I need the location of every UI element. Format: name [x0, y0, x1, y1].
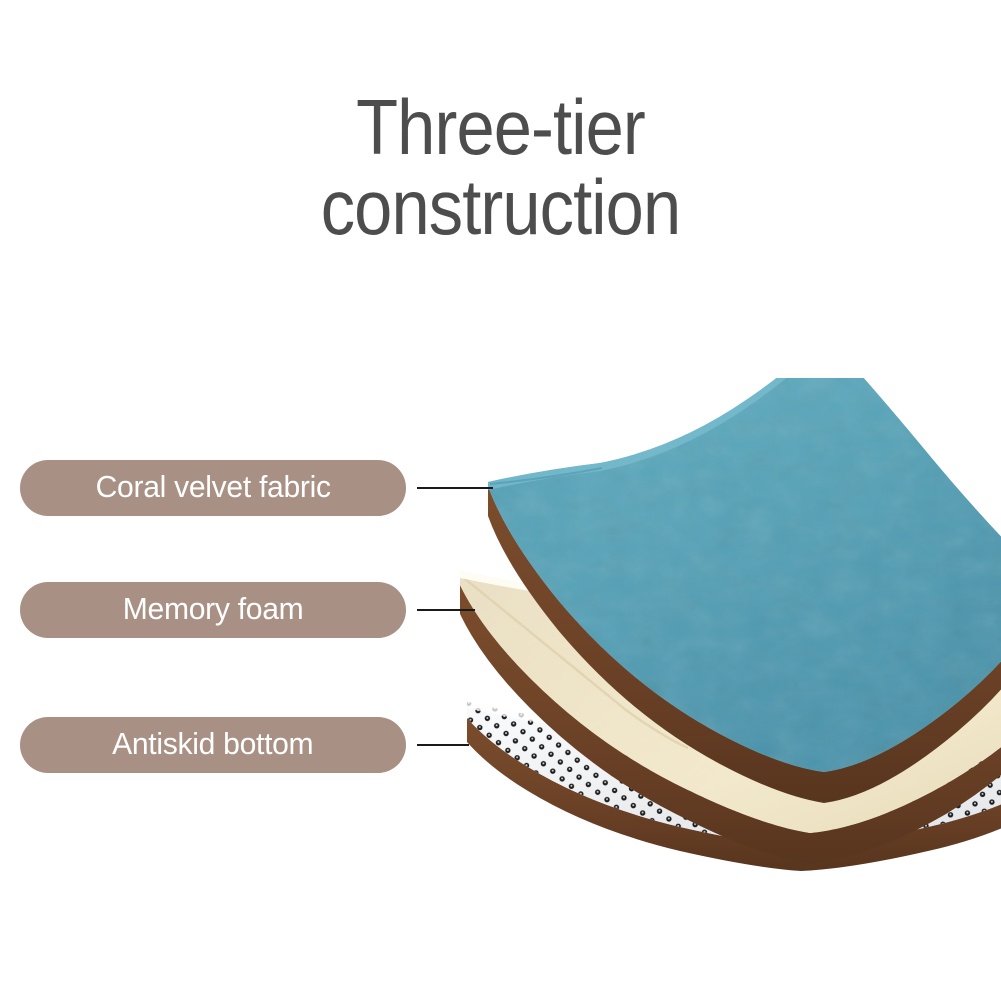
label-pill-antiskid-bottom[interactable]: Antiskid bottom — [20, 717, 406, 773]
infographic-page: Three-tier construction — [0, 0, 1001, 1001]
label-pill-text: Coral velvet fabric — [95, 469, 330, 505]
page-title: Three-tier construction — [60, 88, 941, 247]
label-pill-text: Memory foam — [123, 591, 304, 627]
leader-line-antiskid-bottom — [417, 744, 469, 746]
leader-line-memory-foam — [417, 609, 475, 611]
label-pill-text: Antiskid bottom — [112, 726, 313, 762]
layer-stack-illustration — [430, 378, 1001, 878]
leader-line-coral-velvet-fabric — [417, 487, 493, 489]
label-pill-coral-velvet-fabric[interactable]: Coral velvet fabric — [20, 460, 406, 516]
label-pill-memory-foam[interactable]: Memory foam — [20, 582, 406, 638]
